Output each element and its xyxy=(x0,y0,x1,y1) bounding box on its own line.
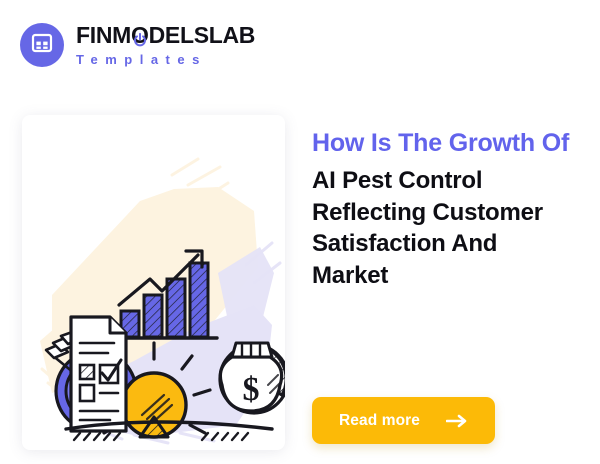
power-icon xyxy=(132,28,147,43)
brand-name-part1: FINM xyxy=(76,22,131,48)
grid-table-icon xyxy=(30,31,54,60)
business-analytics-balance-illustration: $ xyxy=(22,115,285,450)
brand-logo[interactable]: FINMODELSLAB Templates xyxy=(20,23,255,67)
read-more-label: Read more xyxy=(339,412,420,430)
brand-name: FINMODELSLAB xyxy=(76,24,255,47)
brand-subtitle: Templates xyxy=(76,53,255,66)
arrow-right-icon xyxy=(446,414,468,428)
brand-wordmark: FINMODELSLAB Templates xyxy=(76,24,255,66)
brand-mark xyxy=(20,23,64,67)
document-checklist-icon xyxy=(71,317,126,431)
read-more-button[interactable]: Read more xyxy=(312,397,495,444)
page-title: AI Pest Control Reflecting Customer Sati… xyxy=(312,165,574,292)
eyebrow-heading: How Is The Growth Of xyxy=(312,128,574,159)
brand-name-o: O xyxy=(131,24,149,47)
article-text-block: How Is The Growth Of AI Pest Control Ref… xyxy=(312,128,574,292)
illustration-card: $ xyxy=(22,115,285,450)
brand-name-part2: DELSLAB xyxy=(149,22,256,48)
dollar-sign-icon: $ xyxy=(243,371,260,408)
